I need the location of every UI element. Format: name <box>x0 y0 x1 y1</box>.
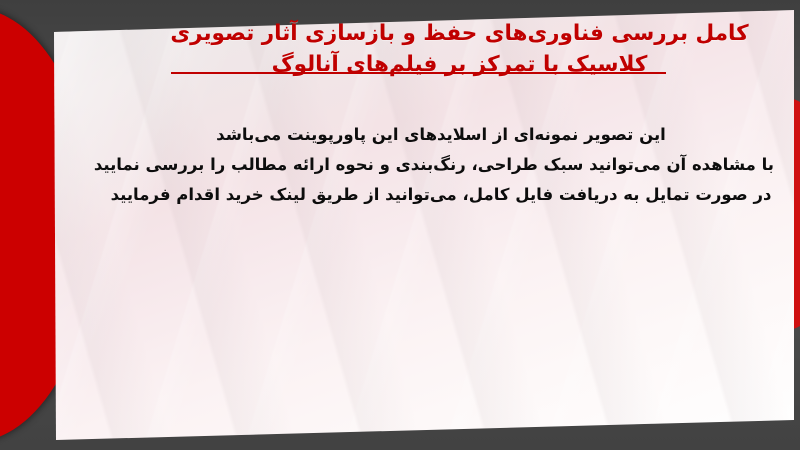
slide-title: کامل بررسی فناوری‌های حفظ و بازسازی آثار… <box>143 18 776 80</box>
title-underline <box>171 72 666 74</box>
body-line-3: در صورت تمایل به دریافت فایل کامل، می‌تو… <box>108 180 774 210</box>
slide-body-text: این تصویر نمونه‌ای از اسلایدهای این پاور… <box>108 120 774 210</box>
body-line-2: با مشاهده آن می‌توانید سبک طراحی، رنگ‌بن… <box>108 150 774 180</box>
slide-content: کامل بررسی فناوری‌های حفظ و بازسازی آثار… <box>48 10 794 440</box>
title-line-2: کلاسیک با تمرکز بر فیلم‌های آنالوگ <box>143 49 776 80</box>
presentation-slide: کامل بررسی فناوری‌های حفظ و بازسازی آثار… <box>0 0 800 450</box>
body-line-1: این تصویر نمونه‌ای از اسلایدهای این پاور… <box>108 120 774 150</box>
title-line-1: کامل بررسی فناوری‌های حفظ و بازسازی آثار… <box>143 18 776 49</box>
